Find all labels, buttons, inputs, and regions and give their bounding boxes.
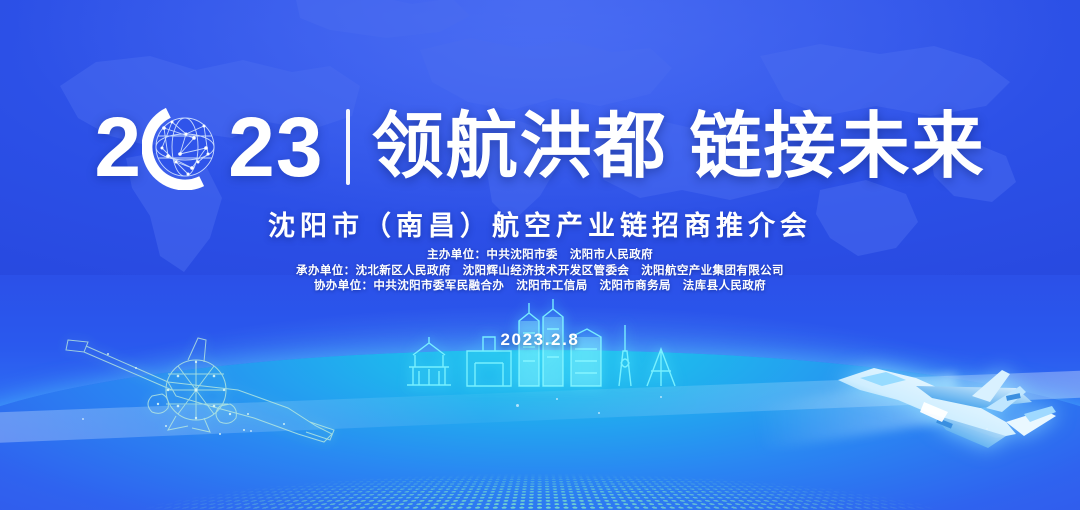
page-title: 领航洪都 链接未来 xyxy=(372,111,986,183)
organizer-block: 主办单位：中共沈阳市委 沈阳市人民政府 承办单位：沈北新区人民政府 沈阳辉山经济… xyxy=(0,248,1080,295)
page-subtitle: 沈阳市（南昌）航空产业链招商推介会 xyxy=(0,204,1080,243)
organizer-line-coorganizer: 协办单位：中共沈阳市委军民融合办 沈阳市工信局 沈阳市商务局 法库县人民政府 xyxy=(0,279,1080,295)
conference-banner: 2 xyxy=(0,0,1080,510)
headline-row: 2 xyxy=(0,101,1080,193)
year-logo: 2 xyxy=(94,104,323,190)
event-date: 2023.2.8 xyxy=(0,330,1080,350)
year-digit-prefix: 2 xyxy=(94,105,142,189)
organizer-line-host: 主办单位：中共沈阳市委 沈阳市人民政府 xyxy=(0,248,1080,264)
ground-dot-map xyxy=(130,467,951,510)
banner-content: 2 xyxy=(0,0,1080,360)
year-digit-suffix: 23 xyxy=(228,105,323,189)
network-globe-icon xyxy=(142,104,228,190)
fighter-jet-icon xyxy=(820,352,1070,462)
title-divider xyxy=(346,109,350,185)
organizer-line-undertaker: 承办单位：沈北新区人民政府 沈阳辉山经济技术开发区管委会 沈阳航空产业集团有限公… xyxy=(0,264,1080,280)
